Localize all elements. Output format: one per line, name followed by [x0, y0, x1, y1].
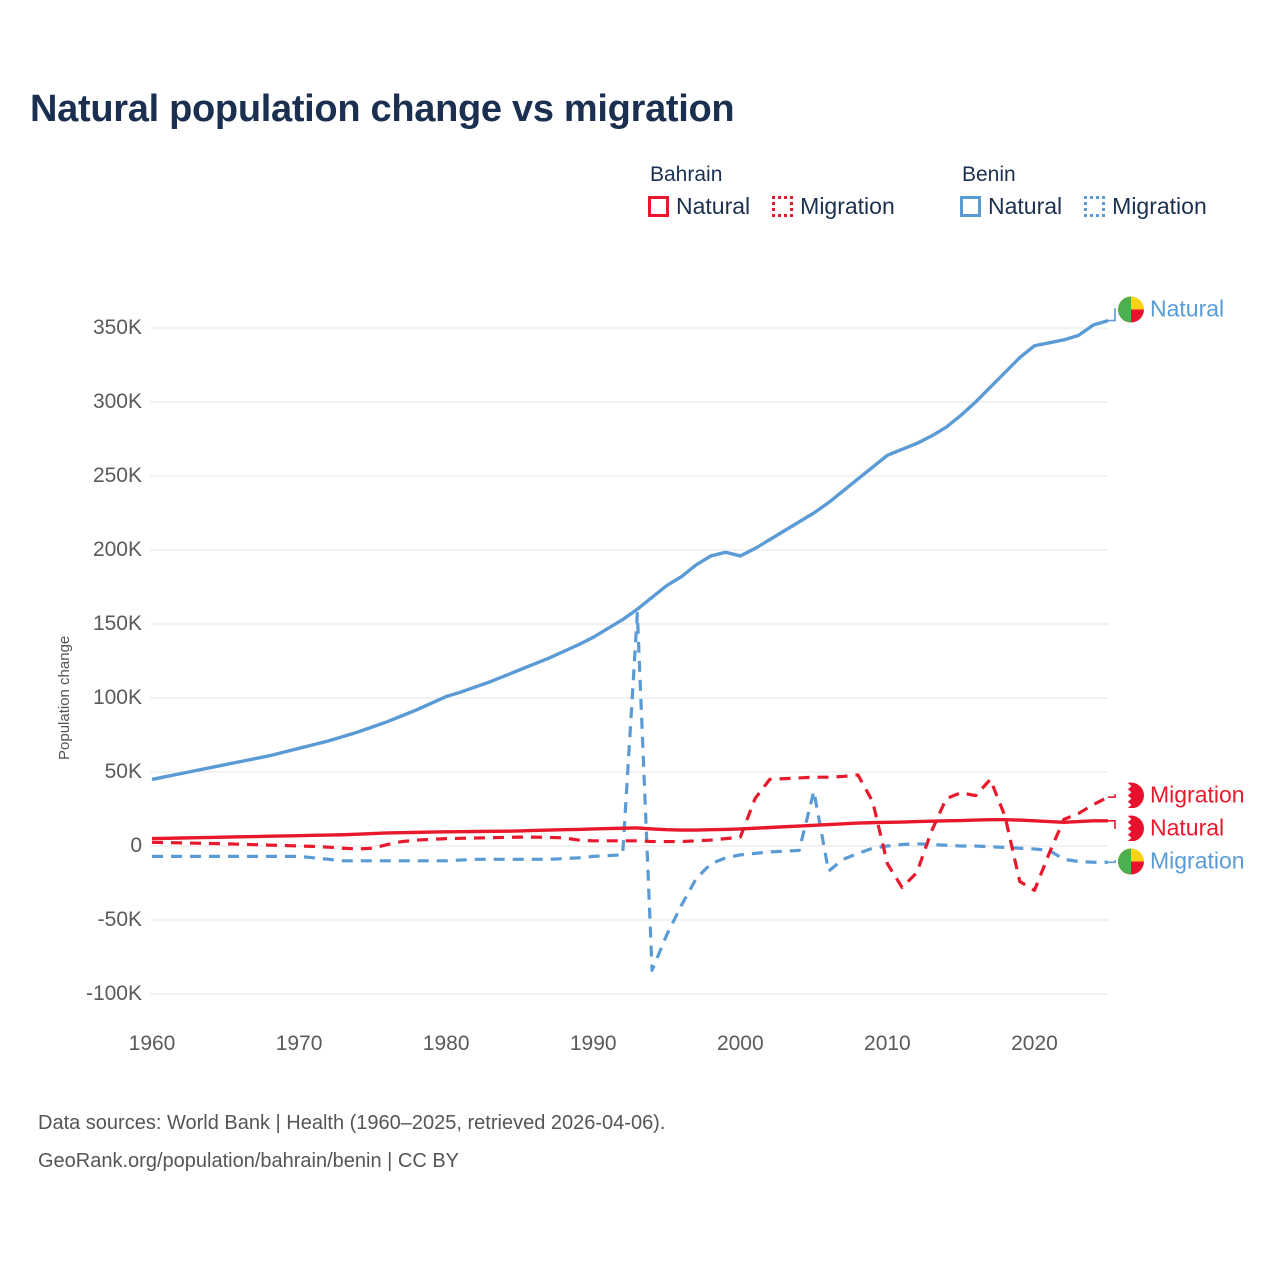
end-label-benin-natural[interactable]: Natural	[1118, 296, 1224, 323]
x-axis-tick-label: 1960	[92, 1032, 212, 1056]
y-axis-tick-label: 300K	[22, 390, 142, 414]
y-axis-tick-label: 50K	[22, 760, 142, 784]
footer-data-sources: Data sources: World Bank | Health (1960–…	[38, 1112, 665, 1135]
series-line-benin-migration	[152, 614, 1108, 971]
end-label-leader	[1108, 795, 1116, 797]
benin-flag-icon	[1118, 848, 1144, 874]
y-axis-tick-label: -50K	[22, 908, 142, 932]
x-axis-tick-label: 1990	[533, 1032, 653, 1056]
x-axis-tick-label: 2010	[827, 1032, 947, 1056]
footer-attribution: GeoRank.org/population/bahrain/benin | C…	[38, 1150, 459, 1173]
y-axis-tick-label: 250K	[22, 464, 142, 488]
y-axis-tick-label: 150K	[22, 612, 142, 636]
x-axis-tick-label: 1970	[239, 1032, 359, 1056]
series-line-bahrain-migration	[152, 775, 1108, 890]
x-axis-tick-label: 2000	[680, 1032, 800, 1056]
bahrain-flag-icon	[1118, 815, 1144, 841]
y-axis-tick-label: 350K	[22, 316, 142, 340]
end-label-text: Natural	[1150, 815, 1224, 842]
end-label-bahrain-migration[interactable]: Migration	[1118, 782, 1245, 809]
y-axis-tick-label: 100K	[22, 686, 142, 710]
x-axis-tick-label: 1980	[386, 1032, 506, 1056]
y-axis-tick-label: -100K	[22, 982, 142, 1006]
series-line-bahrain-natural	[152, 820, 1108, 839]
x-axis-tick-label: 2020	[974, 1032, 1094, 1056]
end-label-text: Natural	[1150, 296, 1224, 323]
chart-canvas	[0, 0, 1280, 1280]
y-axis-tick-label: 0	[22, 834, 142, 858]
bahrain-flag-icon	[1118, 782, 1144, 808]
y-axis-tick-label: 200K	[22, 538, 142, 562]
benin-flag-icon	[1118, 296, 1144, 322]
end-label-leader	[1108, 861, 1116, 862]
end-label-text: Migration	[1150, 848, 1245, 875]
end-label-bahrain-natural[interactable]: Natural	[1118, 815, 1224, 842]
end-label-text: Migration	[1150, 782, 1245, 809]
chart-plot-area: Population change -100K-50K050K100K150K2…	[0, 0, 1280, 1280]
end-label-leader	[1108, 821, 1116, 828]
end-label-benin-migration[interactable]: Migration	[1118, 848, 1245, 875]
end-label-leader	[1108, 309, 1116, 321]
